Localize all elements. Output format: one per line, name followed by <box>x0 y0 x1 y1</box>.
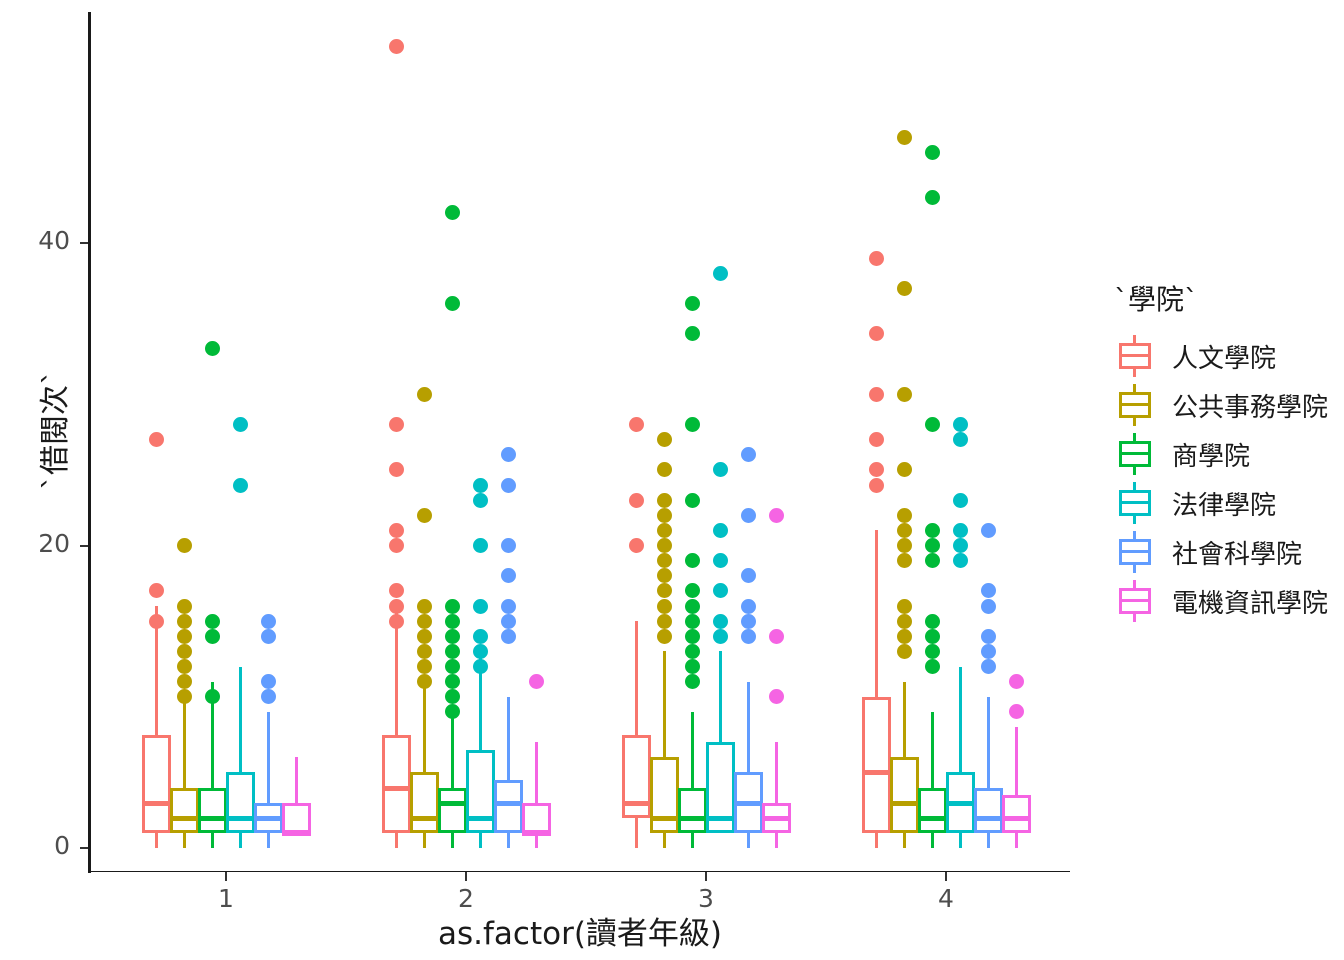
outlier-point <box>233 478 248 493</box>
outlier-point <box>741 614 756 629</box>
outlier-point <box>417 629 432 644</box>
outlier-point <box>657 614 672 629</box>
outlier-point <box>389 523 404 538</box>
outlier-point <box>501 447 516 462</box>
box-median-line <box>890 801 919 806</box>
outlier-point <box>897 523 912 538</box>
box-whisker-lower <box>155 833 158 848</box>
outlier-point <box>925 614 940 629</box>
box-median-line <box>862 770 891 775</box>
box-whisker-lower <box>875 833 878 848</box>
outlier-point <box>445 674 460 689</box>
outlier-point <box>417 659 432 674</box>
outlier-point <box>953 493 968 508</box>
outlier-point <box>925 523 940 538</box>
box-median-line <box>650 816 679 821</box>
legend-key-median <box>1119 354 1151 357</box>
outlier-point <box>953 523 968 538</box>
outlier-point <box>529 674 544 689</box>
outlier-point <box>417 674 432 689</box>
outlier-point <box>741 508 756 523</box>
box-rect <box>170 788 199 833</box>
outlier-point <box>445 659 460 674</box>
box-whisker-lower <box>691 833 694 848</box>
box-rect <box>226 772 255 833</box>
x-tick-mark <box>705 872 707 881</box>
box-rect <box>198 788 227 833</box>
legend-key-median <box>1119 550 1151 553</box>
outlier-point <box>897 130 912 145</box>
outlier-point <box>1009 704 1024 719</box>
outlier-point <box>389 39 404 54</box>
outlier-point <box>657 462 672 477</box>
outlier-point <box>149 583 164 598</box>
box-whisker-upper <box>987 697 990 788</box>
outlier-point <box>389 417 404 432</box>
x-tick-label: 4 <box>938 884 954 913</box>
box-whisker-upper <box>931 712 934 788</box>
outlier-point <box>657 599 672 614</box>
box-whisker-upper <box>691 712 694 788</box>
outlier-point <box>1009 674 1024 689</box>
outlier-point <box>261 689 276 704</box>
box-median-line <box>974 816 1003 821</box>
legend-item-label: 電機資訊學院 <box>1172 583 1328 620</box>
outlier-point <box>897 629 912 644</box>
box-whisker-upper <box>747 682 750 773</box>
outlier-point <box>713 629 728 644</box>
outlier-point <box>981 583 996 598</box>
outlier-point <box>713 523 728 538</box>
outlier-point <box>501 599 516 614</box>
outlier-point <box>473 478 488 493</box>
outlier-point <box>981 599 996 614</box>
box-whisker-upper <box>239 667 242 773</box>
outlier-point <box>925 629 940 644</box>
outlier-point <box>897 281 912 296</box>
box-median-line <box>522 831 551 836</box>
legend-item-label: 人文學院 <box>1172 338 1276 375</box>
outlier-point <box>177 644 192 659</box>
y-tick-label: 20 <box>38 529 70 558</box>
outlier-point <box>869 462 884 477</box>
box-whisker-lower <box>239 833 242 848</box>
outlier-point <box>205 689 220 704</box>
legend-key-boxplot-icon <box>1112 579 1158 623</box>
box-rect <box>918 788 947 833</box>
box-whisker-upper <box>903 682 906 758</box>
box-median-line <box>762 816 791 821</box>
box-whisker-lower <box>663 833 666 848</box>
outlier-point <box>685 659 700 674</box>
outlier-point <box>629 417 644 432</box>
outlier-point <box>445 704 460 719</box>
outlier-point <box>897 553 912 568</box>
outlier-point <box>261 629 276 644</box>
box-median-line <box>678 816 707 821</box>
box-whisker-upper <box>295 757 298 802</box>
box-rect <box>678 788 707 833</box>
outlier-point <box>925 145 940 160</box>
box-median-line <box>254 816 283 821</box>
y-tick-mark <box>80 545 88 547</box>
box-median-line <box>282 831 311 836</box>
box-median-line <box>438 801 467 806</box>
box-median-line <box>410 816 439 821</box>
legend-item-6[interactable]: 電機資訊學院 <box>1112 579 1342 623</box>
box-whisker-upper <box>635 621 638 734</box>
outlier-point <box>205 629 220 644</box>
box-median-line <box>1002 816 1031 821</box>
outlier-point <box>233 417 248 432</box>
outlier-point <box>501 478 516 493</box>
box-rect <box>410 772 439 833</box>
box-whisker-upper <box>875 530 878 696</box>
plot-panel <box>91 12 1070 871</box>
y-axis-label: `借閱次` <box>30 370 74 490</box>
box-rect <box>1002 795 1031 833</box>
y-tick-label: 0 <box>54 831 70 860</box>
box-median-line <box>382 786 411 791</box>
box-whisker-upper <box>719 651 722 742</box>
outlier-point <box>925 417 940 432</box>
outlier-point <box>389 614 404 629</box>
box-whisker-lower <box>775 833 778 848</box>
box-median-line <box>170 816 199 821</box>
legend-title: `學院` <box>1114 278 1342 318</box>
box-rect <box>862 697 891 833</box>
box-median-line <box>918 816 947 821</box>
legend-items: 人文學院公共事務學院商學院法律學院社會科學院電機資訊學院 <box>1112 334 1342 623</box>
outlier-point <box>417 614 432 629</box>
outlier-point <box>629 493 644 508</box>
box-whisker-lower <box>931 833 934 848</box>
box-whisker-lower <box>635 818 638 848</box>
outlier-point <box>657 493 672 508</box>
outlier-point <box>389 538 404 553</box>
box-whisker-upper <box>535 742 538 803</box>
chart-root: 02040 1234 `借閱次` as.factor(讀者年級) `學院` 人文… <box>0 0 1344 960</box>
box-whisker-lower <box>1015 833 1018 848</box>
outlier-point <box>741 629 756 644</box>
box-rect <box>494 780 523 833</box>
box-whisker-upper <box>451 712 454 788</box>
outlier-point <box>741 568 756 583</box>
outlier-point <box>685 296 700 311</box>
box-median-line <box>706 816 735 821</box>
legend-key-whisker-lower <box>1133 564 1136 573</box>
outlier-point <box>685 614 700 629</box>
outlier-point <box>685 326 700 341</box>
box-median-line <box>226 816 255 821</box>
legend-item-5[interactable]: 社會科學院 <box>1112 530 1342 574</box>
outlier-point <box>445 205 460 220</box>
outlier-point <box>713 583 728 598</box>
outlier-point <box>897 599 912 614</box>
outlier-point <box>177 674 192 689</box>
outlier-point <box>657 568 672 583</box>
outlier-point <box>389 583 404 598</box>
outlier-point <box>473 659 488 674</box>
box-median-line <box>142 801 171 806</box>
outlier-point <box>501 538 516 553</box>
outlier-point <box>177 659 192 674</box>
box-rect <box>522 803 551 833</box>
legend-key-boxplot-icon <box>1112 432 1158 476</box>
outlier-point <box>685 583 700 598</box>
legend-key-median <box>1119 452 1151 455</box>
legend-key-median <box>1119 403 1151 406</box>
x-axis-label: as.factor(讀者年級) <box>438 908 722 953</box>
legend-key-boxplot-icon <box>1112 334 1158 378</box>
outlier-point <box>501 629 516 644</box>
outlier-point <box>177 538 192 553</box>
outlier-point <box>445 296 460 311</box>
legend-key-boxplot-icon <box>1112 383 1158 427</box>
box-whisker-lower <box>267 833 270 848</box>
outlier-point <box>657 432 672 447</box>
outlier-point <box>769 629 784 644</box>
legend-key-whisker-lower <box>1133 368 1136 377</box>
outlier-point <box>657 508 672 523</box>
outlier-point <box>657 583 672 598</box>
outlier-point <box>925 553 940 568</box>
outlier-point <box>685 553 700 568</box>
outlier-point <box>685 417 700 432</box>
box-median-line <box>946 801 975 806</box>
outlier-point <box>417 508 432 523</box>
outlier-point <box>897 508 912 523</box>
outlier-point <box>869 478 884 493</box>
legend-item-label: 法律學院 <box>1172 485 1276 522</box>
legend-item-label: 商學院 <box>1172 436 1250 473</box>
outlier-point <box>685 493 700 508</box>
legend-item-2[interactable]: 公共事務學院 <box>1112 383 1342 427</box>
legend-item-1[interactable]: 人文學院 <box>1112 334 1342 378</box>
legend-key-whisker-lower <box>1133 515 1136 524</box>
outlier-point <box>981 659 996 674</box>
y-axis-label-wrap: `借閱次` <box>0 0 40 860</box>
outlier-point <box>657 523 672 538</box>
outlier-point <box>897 538 912 553</box>
box-rect <box>438 788 467 833</box>
box-rect <box>382 735 411 833</box>
box-whisker-upper <box>507 697 510 780</box>
outlier-point <box>261 674 276 689</box>
box-whisker-lower <box>395 833 398 848</box>
x-tick-mark <box>225 872 227 881</box>
outlier-point <box>417 387 432 402</box>
outlier-point <box>741 447 756 462</box>
outlier-point <box>981 644 996 659</box>
outlier-point <box>657 629 672 644</box>
outlier-point <box>897 614 912 629</box>
legend-key-median <box>1119 599 1151 602</box>
box-rect <box>282 803 311 833</box>
box-whisker-upper <box>775 742 778 803</box>
outlier-point <box>445 599 460 614</box>
outlier-point <box>473 629 488 644</box>
legend-key-whisker-lower <box>1133 613 1136 622</box>
outlier-point <box>869 326 884 341</box>
outlier-point <box>473 493 488 508</box>
outlier-point <box>981 629 996 644</box>
x-tick-mark <box>945 872 947 881</box>
box-whisker-upper <box>267 712 270 803</box>
outlier-point <box>389 599 404 614</box>
box-median-line <box>466 816 495 821</box>
outlier-point <box>149 432 164 447</box>
outlier-point <box>473 599 488 614</box>
outlier-point <box>769 689 784 704</box>
box-whisker-lower <box>903 833 906 848</box>
outlier-point <box>685 674 700 689</box>
box-whisker-lower <box>987 833 990 848</box>
outlier-point <box>445 629 460 644</box>
box-whisker-upper <box>663 651 666 757</box>
outlier-point <box>981 523 996 538</box>
legend-item-4[interactable]: 法律學院 <box>1112 481 1342 525</box>
outlier-point <box>769 508 784 523</box>
legend-item-label: 社會科學院 <box>1172 534 1302 571</box>
box-rect <box>890 757 919 833</box>
legend: `學院` 人文學院公共事務學院商學院法律學院社會科學院電機資訊學院 <box>1112 278 1342 628</box>
box-whisker-lower <box>959 833 962 848</box>
outlier-point <box>925 659 940 674</box>
outlier-point <box>685 644 700 659</box>
outlier-point <box>713 553 728 568</box>
outlier-point <box>925 644 940 659</box>
outlier-point <box>261 614 276 629</box>
y-tick-label: 40 <box>38 226 70 255</box>
outlier-point <box>657 553 672 568</box>
x-tick-mark <box>465 872 467 881</box>
box-whisker-lower <box>183 833 186 848</box>
box-rect <box>974 788 1003 833</box>
outlier-point <box>473 538 488 553</box>
box-whisker-lower <box>451 833 454 848</box>
outlier-point <box>205 614 220 629</box>
outlier-point <box>177 629 192 644</box>
legend-key-median <box>1119 501 1151 504</box>
legend-key-whisker-lower <box>1133 417 1136 426</box>
outlier-point <box>869 387 884 402</box>
outlier-point <box>177 614 192 629</box>
outlier-point <box>713 462 728 477</box>
legend-key-boxplot-icon <box>1112 481 1158 525</box>
outlier-point <box>925 190 940 205</box>
outlier-point <box>205 341 220 356</box>
outlier-point <box>897 644 912 659</box>
box-whisker-lower <box>747 833 750 848</box>
legend-item-3[interactable]: 商學院 <box>1112 432 1342 476</box>
outlier-point <box>953 432 968 447</box>
box-rect <box>142 735 171 833</box>
outlier-point <box>953 538 968 553</box>
outlier-point <box>501 568 516 583</box>
outlier-point <box>713 266 728 281</box>
y-tick-mark <box>80 847 88 849</box>
box-median-line <box>622 801 651 806</box>
outlier-point <box>953 553 968 568</box>
legend-item-label: 公共事務學院 <box>1172 387 1328 424</box>
box-whisker-lower <box>507 833 510 848</box>
outlier-point <box>177 689 192 704</box>
box-whisker-upper <box>1015 727 1018 795</box>
legend-key-whisker-lower <box>1133 466 1136 475</box>
box-median-line <box>198 816 227 821</box>
outlier-point <box>741 599 756 614</box>
box-whisker-lower <box>423 833 426 848</box>
outlier-point <box>953 417 968 432</box>
box-whisker-lower <box>479 833 482 848</box>
outlier-point <box>501 614 516 629</box>
outlier-point <box>897 387 912 402</box>
outlier-point <box>177 599 192 614</box>
outlier-point <box>869 432 884 447</box>
outlier-point <box>629 538 644 553</box>
box-median-line <box>734 801 763 806</box>
outlier-point <box>417 644 432 659</box>
box-whisker-upper <box>423 682 426 773</box>
outlier-point <box>713 614 728 629</box>
outlier-point <box>685 629 700 644</box>
outlier-point <box>149 614 164 629</box>
box-whisker-upper <box>959 667 962 773</box>
outlier-point <box>869 251 884 266</box>
box-whisker-lower <box>211 833 214 848</box>
box-whisker-upper <box>183 697 186 788</box>
outlier-point <box>445 689 460 704</box>
outlier-point <box>389 462 404 477</box>
outlier-point <box>657 538 672 553</box>
box-rect <box>650 757 679 833</box>
outlier-point <box>897 462 912 477</box>
outlier-point <box>417 599 432 614</box>
y-tick-mark <box>80 242 88 244</box>
x-tick-label: 1 <box>218 884 234 913</box>
box-median-line <box>494 801 523 806</box>
outlier-point <box>685 599 700 614</box>
outlier-point <box>925 538 940 553</box>
outlier-point <box>445 644 460 659</box>
legend-key-boxplot-icon <box>1112 530 1158 574</box>
outlier-point <box>445 614 460 629</box>
outlier-point <box>473 644 488 659</box>
